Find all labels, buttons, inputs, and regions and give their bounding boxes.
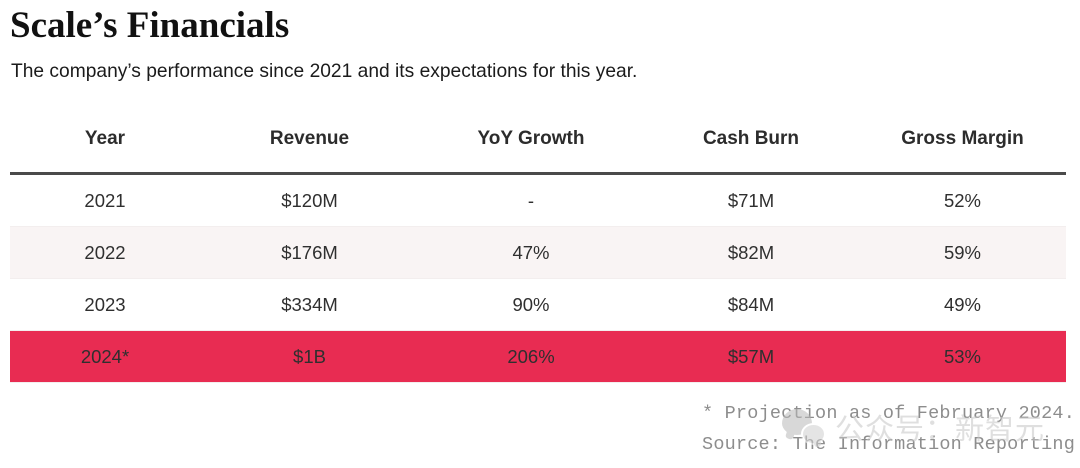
cell-gross-margin: 49% bbox=[859, 279, 1066, 331]
cell-cash-burn: $82M bbox=[643, 227, 859, 279]
cell-gross-margin: 59% bbox=[859, 227, 1066, 279]
financials-table: Year Revenue YoY Growth Cash Burn Gross … bbox=[10, 124, 1066, 383]
table-header: Year Revenue YoY Growth Cash Burn Gross … bbox=[10, 124, 1066, 174]
page-subtitle: The company’s performance since 2021 and… bbox=[11, 58, 637, 84]
column-header-year: Year bbox=[10, 124, 200, 174]
page-title: Scale’s Financials bbox=[10, 4, 289, 48]
cell-year: 2021 bbox=[10, 174, 200, 227]
cell-year: 2022 bbox=[10, 227, 200, 279]
table-body: 2021 $120M - $71M 52% 2022 $176M 47% $82… bbox=[10, 174, 1066, 383]
cell-cash-burn: $57M bbox=[643, 331, 859, 383]
cell-yoy-growth: 206% bbox=[419, 331, 643, 383]
cell-cash-burn: $71M bbox=[643, 174, 859, 227]
cell-gross-margin: 52% bbox=[859, 174, 1066, 227]
cell-year: 2024* bbox=[10, 331, 200, 383]
footnotes: * Projection as of February 2024. Source… bbox=[702, 398, 1075, 460]
cell-revenue: $176M bbox=[200, 227, 419, 279]
table-row-highlighted: 2024* $1B 206% $57M 53% bbox=[10, 331, 1066, 383]
cell-yoy-growth: 47% bbox=[419, 227, 643, 279]
table-header-row: Year Revenue YoY Growth Cash Burn Gross … bbox=[10, 124, 1066, 174]
cell-yoy-growth: 90% bbox=[419, 279, 643, 331]
cell-revenue: $1B bbox=[200, 331, 419, 383]
footnote-projection: * Projection as of February 2024. bbox=[702, 398, 1075, 429]
financials-table-container: Year Revenue YoY Growth Cash Burn Gross … bbox=[10, 124, 1066, 383]
table-row: 2023 $334M 90% $84M 49% bbox=[10, 279, 1066, 331]
cell-gross-margin: 53% bbox=[859, 331, 1066, 383]
table-row: 2022 $176M 47% $82M 59% bbox=[10, 227, 1066, 279]
cell-cash-burn: $84M bbox=[643, 279, 859, 331]
column-header-cash-burn: Cash Burn bbox=[643, 124, 859, 174]
column-header-yoy-growth: YoY Growth bbox=[419, 124, 643, 174]
cell-revenue: $120M bbox=[200, 174, 419, 227]
cell-revenue: $334M bbox=[200, 279, 419, 331]
cell-yoy-growth: - bbox=[419, 174, 643, 227]
column-header-revenue: Revenue bbox=[200, 124, 419, 174]
footnote-source: Source: The Information Reporting bbox=[702, 429, 1075, 460]
column-header-gross-margin: Gross Margin bbox=[859, 124, 1066, 174]
table-row: 2021 $120M - $71M 52% bbox=[10, 174, 1066, 227]
financials-table-graphic: Scale’s Financials The company’s perform… bbox=[0, 0, 1080, 468]
cell-year: 2023 bbox=[10, 279, 200, 331]
